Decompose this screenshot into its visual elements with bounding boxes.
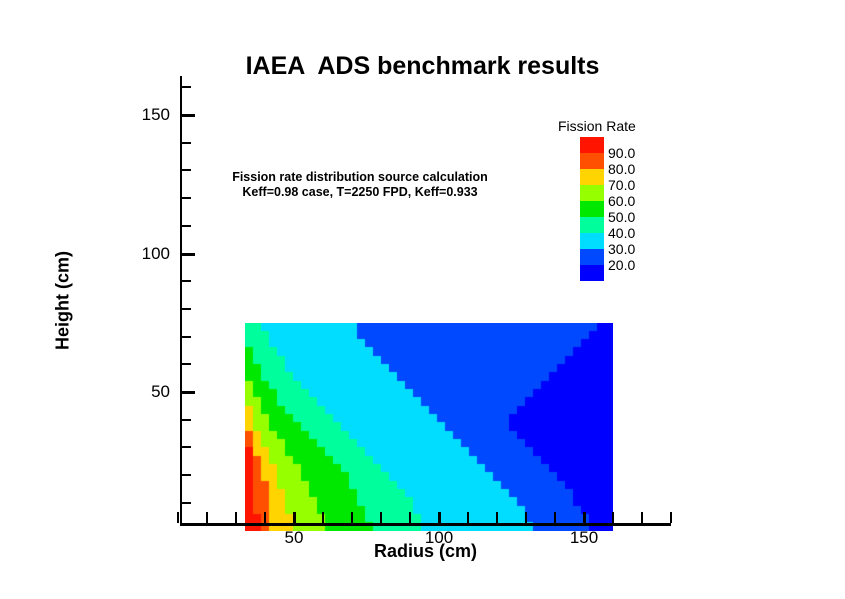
y-axis-minor-tick xyxy=(182,86,191,88)
y-axis-minor-tick xyxy=(182,419,191,421)
legend-swatch-5 xyxy=(580,217,604,233)
x-axis-minor-tick xyxy=(467,512,469,523)
legend: Fission Rate 90.080.070.060.050.040.030.… xyxy=(556,118,656,137)
x-axis-minor-tick xyxy=(351,512,353,523)
y-axis-minor-tick xyxy=(182,308,191,310)
y-axis-minor-tick xyxy=(182,225,191,227)
x-axis-line xyxy=(180,523,671,526)
legend-swatch-3 xyxy=(580,185,604,201)
plot-annotation: Fission rate distribution source calcula… xyxy=(185,170,535,200)
contour-plot-canvas xyxy=(245,323,613,531)
x-axis-minor-tick xyxy=(380,512,382,523)
y-axis-minor-tick xyxy=(182,142,191,144)
legend-label-3: 60.0 xyxy=(608,193,656,209)
x-axis-minor-tick xyxy=(554,512,556,523)
x-axis-minor-tick xyxy=(264,512,266,523)
legend-swatch-8 xyxy=(580,265,604,281)
x-axis-minor-tick xyxy=(641,512,643,523)
legend-label-0: 90.0 xyxy=(608,145,656,161)
legend-color-swatches xyxy=(580,137,604,281)
y-axis-minor-tick xyxy=(182,280,191,282)
y-axis-minor-tick xyxy=(182,363,191,365)
x-axis-minor-tick xyxy=(670,512,672,523)
y-axis-minor-tick xyxy=(182,474,191,476)
x-axis-minor-tick xyxy=(322,512,324,523)
x-axis-major-tick xyxy=(583,512,586,525)
legend-label-4: 50.0 xyxy=(608,209,656,225)
x-axis-minor-tick xyxy=(612,512,614,523)
legend-label-1: 80.0 xyxy=(608,161,656,177)
y-axis-minor-tick xyxy=(182,336,191,338)
x-axis-minor-tick xyxy=(235,512,237,523)
legend-title: Fission Rate xyxy=(556,118,656,134)
x-axis-major-tick xyxy=(293,512,296,525)
x-axis-label: Radius (cm) xyxy=(180,541,671,562)
y-axis-major-tick xyxy=(182,391,195,394)
annotation-line-1: Fission rate distribution source calcula… xyxy=(185,170,535,185)
x-axis-minor-tick xyxy=(409,512,411,523)
legend-swatch-1 xyxy=(580,153,604,169)
y-axis-tick-label: 150 xyxy=(110,105,170,125)
y-axis-tick-label: 50 xyxy=(110,382,170,402)
figure-root: IAEA ADS benchmark results 5010015050100… xyxy=(0,0,845,599)
legend-swatch-7 xyxy=(580,249,604,265)
y-axis-minor-tick xyxy=(182,502,191,504)
y-axis-major-tick xyxy=(182,114,195,117)
x-axis-major-tick xyxy=(438,512,441,525)
legend-label-2: 70.0 xyxy=(608,177,656,193)
y-axis-tick-label: 100 xyxy=(110,244,170,264)
legend-swatch-0 xyxy=(580,137,604,153)
legend-tick-labels: 90.080.070.060.050.040.030.020.0 xyxy=(608,145,656,273)
y-axis-label: Height (cm) xyxy=(53,191,74,411)
y-axis-major-tick xyxy=(182,253,195,256)
page-title: IAEA ADS benchmark results xyxy=(0,52,845,81)
legend-label-6: 30.0 xyxy=(608,241,656,257)
legend-swatch-6 xyxy=(580,233,604,249)
x-axis-minor-tick xyxy=(525,512,527,523)
legend-label-7: 20.0 xyxy=(608,257,656,273)
legend-swatch-4 xyxy=(580,201,604,217)
x-axis-minor-tick xyxy=(496,512,498,523)
legend-swatch-2 xyxy=(580,169,604,185)
legend-label-5: 40.0 xyxy=(608,225,656,241)
y-axis-minor-tick xyxy=(182,446,191,448)
x-axis-minor-tick xyxy=(177,512,179,523)
x-axis-minor-tick xyxy=(206,512,208,523)
annotation-line-2: Keff=0.98 case, T=2250 FPD, Keff=0.933 xyxy=(185,185,535,200)
